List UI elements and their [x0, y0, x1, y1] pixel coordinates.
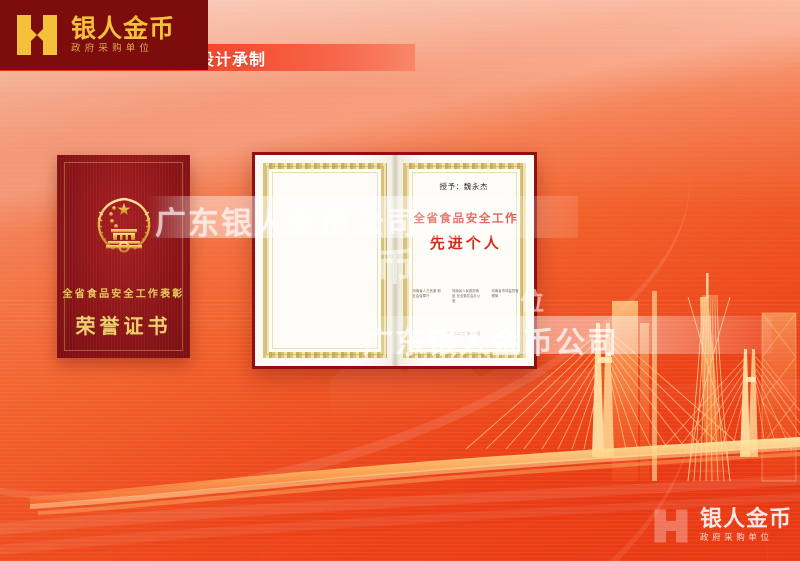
brand-logo[interactable]: 银人金币 政府采购单位	[0, 0, 208, 70]
award-title-line-2: 先进个人	[412, 232, 521, 253]
certificate-pages: 授予：魏永杰 全省食品安全工作 先进个人 河南省人力资源 和社会保障厅 河南省人…	[255, 155, 534, 366]
certificate-issuers: 河南省人力资源 和社会保障厅 河南省人民政府食品 安全委员会办公室 河南省市场监…	[413, 289, 523, 304]
certificate-award-block: 授予：魏永杰 全省食品安全工作 先进个人	[412, 181, 521, 253]
issuer-3: 河南省市场监督管理局	[492, 289, 523, 304]
china-national-emblem-icon	[301, 237, 349, 283]
certificate-left-page	[255, 155, 395, 366]
award-recipient-line: 授予：魏永杰	[440, 181, 521, 192]
brand-subtitle: 政府采购单位	[71, 44, 175, 54]
award-title-line-1: 全省食品安全工作	[412, 210, 521, 226]
brand-logo-words: 银人金币 政府采购单位	[71, 16, 175, 54]
issuer-2: 河南省人民政府食品 安全委员会办公室	[452, 289, 483, 304]
certificate-gutter	[391, 155, 398, 366]
cover-title: 荣誉证书	[57, 310, 190, 339]
issuer-1: 河南省人力资源 和社会保障厅	[413, 289, 444, 304]
open-certificate[interactable]: 授予：魏永杰 全省食品安全工作 先进个人 河南省人力资源 和社会保障厅 河南省人…	[252, 152, 537, 369]
hourglass-h-mark-icon	[14, 12, 60, 58]
certificate-cover[interactable]: 全省食品安全工作表彰 荣誉证书	[57, 155, 190, 358]
banner-text: 设计承制	[198, 46, 266, 70]
china-national-emblem-icon	[91, 193, 157, 255]
cover-subtitle: 全省食品安全工作表彰	[57, 285, 190, 300]
brand-title: 银人金币	[71, 16, 175, 41]
certificate-date: 二〇二三年四月	[395, 331, 535, 337]
cover-inner-border	[64, 162, 183, 351]
certificate-right-page: 授予：魏永杰 全省食品安全工作 先进个人 河南省人力资源 和社会保障厅 河南省人…	[395, 155, 535, 366]
